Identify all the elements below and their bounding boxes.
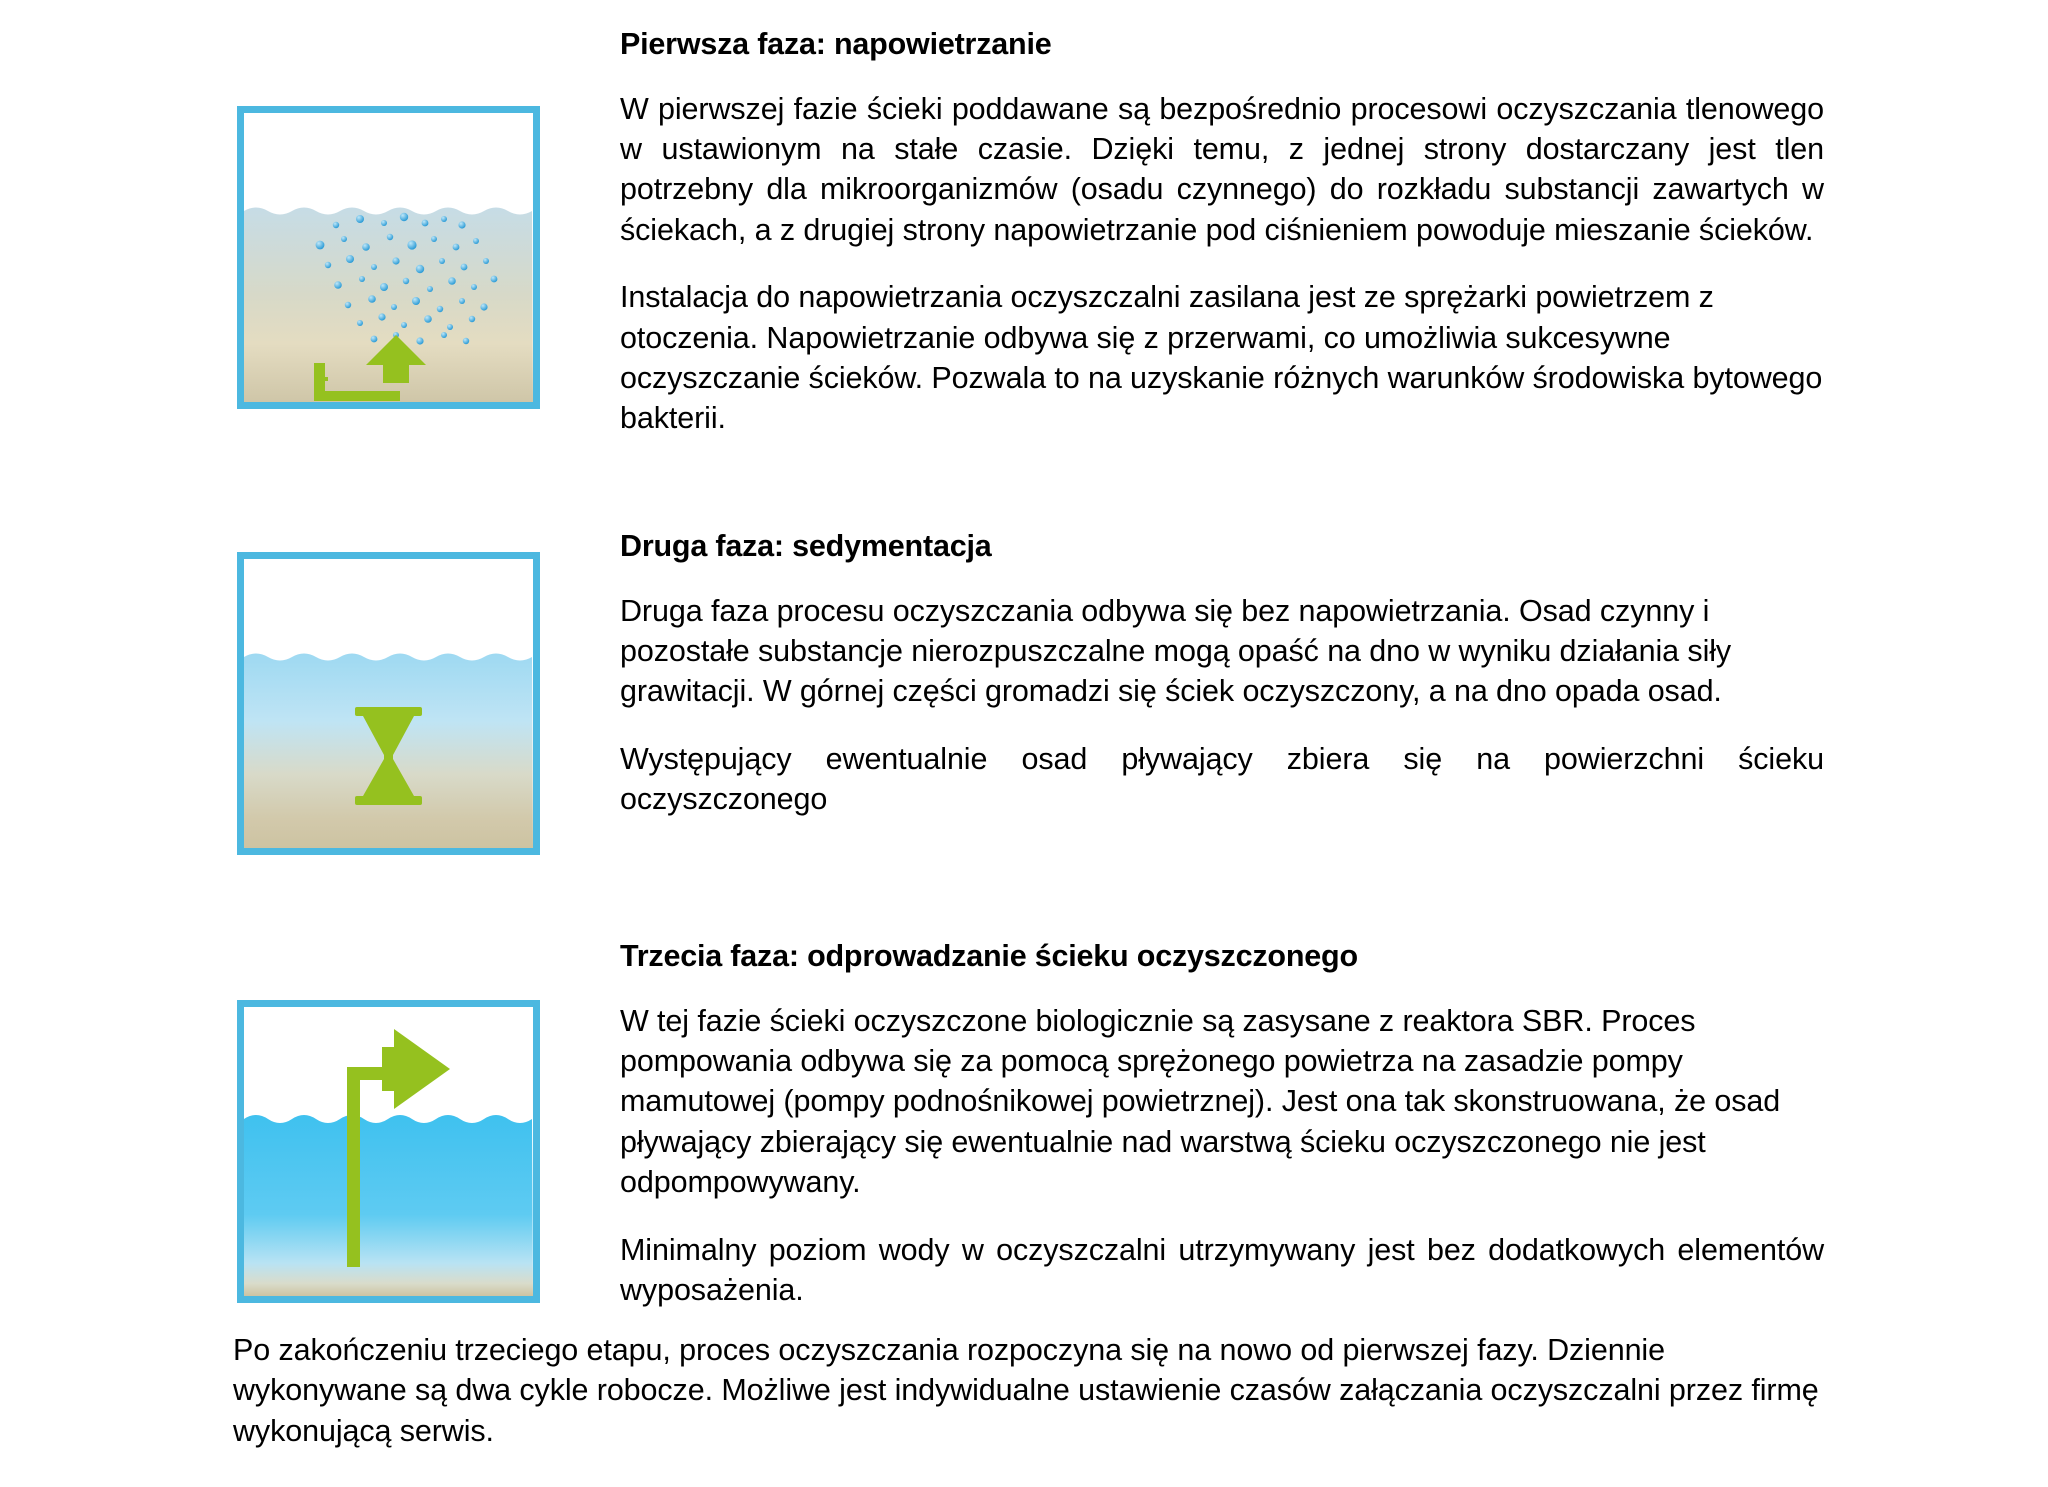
phase-1-paragraph-1: W pierwszej fazie ścieki poddawane są be…: [620, 89, 1824, 251]
tank-aeration-icon: [237, 106, 540, 409]
phase-1-text: Pierwsza faza: napowietrzanie W pierwsze…: [620, 28, 1824, 439]
phase-2-paragraph-1: Druga faza procesu oczyszczania odbywa s…: [620, 591, 1824, 712]
phase-2-text: Druga faza: sedymentacja Druga faza proc…: [620, 530, 1824, 820]
discharge-illustration: [244, 1007, 533, 1296]
document-page: Pierwsza faza: napowietrzanie W pierwsze…: [0, 0, 2048, 1487]
footer-note: Po zakończeniu trzeciego etapu, proces o…: [233, 1330, 1833, 1451]
phase-2-paragraph-2: Występujący ewentualnie osad pływający z…: [620, 739, 1824, 820]
sedimentation-illustration: [244, 559, 533, 848]
phase-3-text: Trzecia faza: odprowadzanie ścieku oczys…: [620, 940, 1824, 1310]
phase-1-title: Pierwsza faza: napowietrzanie: [620, 28, 1824, 62]
phase-3-title: Trzecia faza: odprowadzanie ścieku oczys…: [620, 940, 1824, 974]
phase-section-2: Druga faza: sedymentacja Druga faza proc…: [0, 530, 2048, 950]
footer-text: Po zakończeniu trzeciego etapu, proces o…: [233, 1330, 1833, 1451]
phase-section-3: Trzecia faza: odprowadzanie ścieku oczys…: [0, 940, 2048, 1310]
phase-3-paragraph-1: W tej fazie ścieki oczyszczone biologicz…: [620, 1001, 1824, 1203]
phase-2-title: Druga faza: sedymentacja: [620, 530, 1824, 564]
aeration-illustration: [244, 113, 533, 402]
phase-section-1: Pierwsza faza: napowietrzanie W pierwsze…: [0, 0, 2048, 470]
tank-sedimentation-icon: [237, 552, 540, 855]
phase-1-paragraph-2: Instalacja do napowietrzania oczyszczaln…: [620, 277, 1824, 439]
tank-discharge-icon: [237, 1000, 540, 1303]
phase-3-paragraph-2: Minimalny poziom wody w oczyszczalni utr…: [620, 1230, 1824, 1311]
